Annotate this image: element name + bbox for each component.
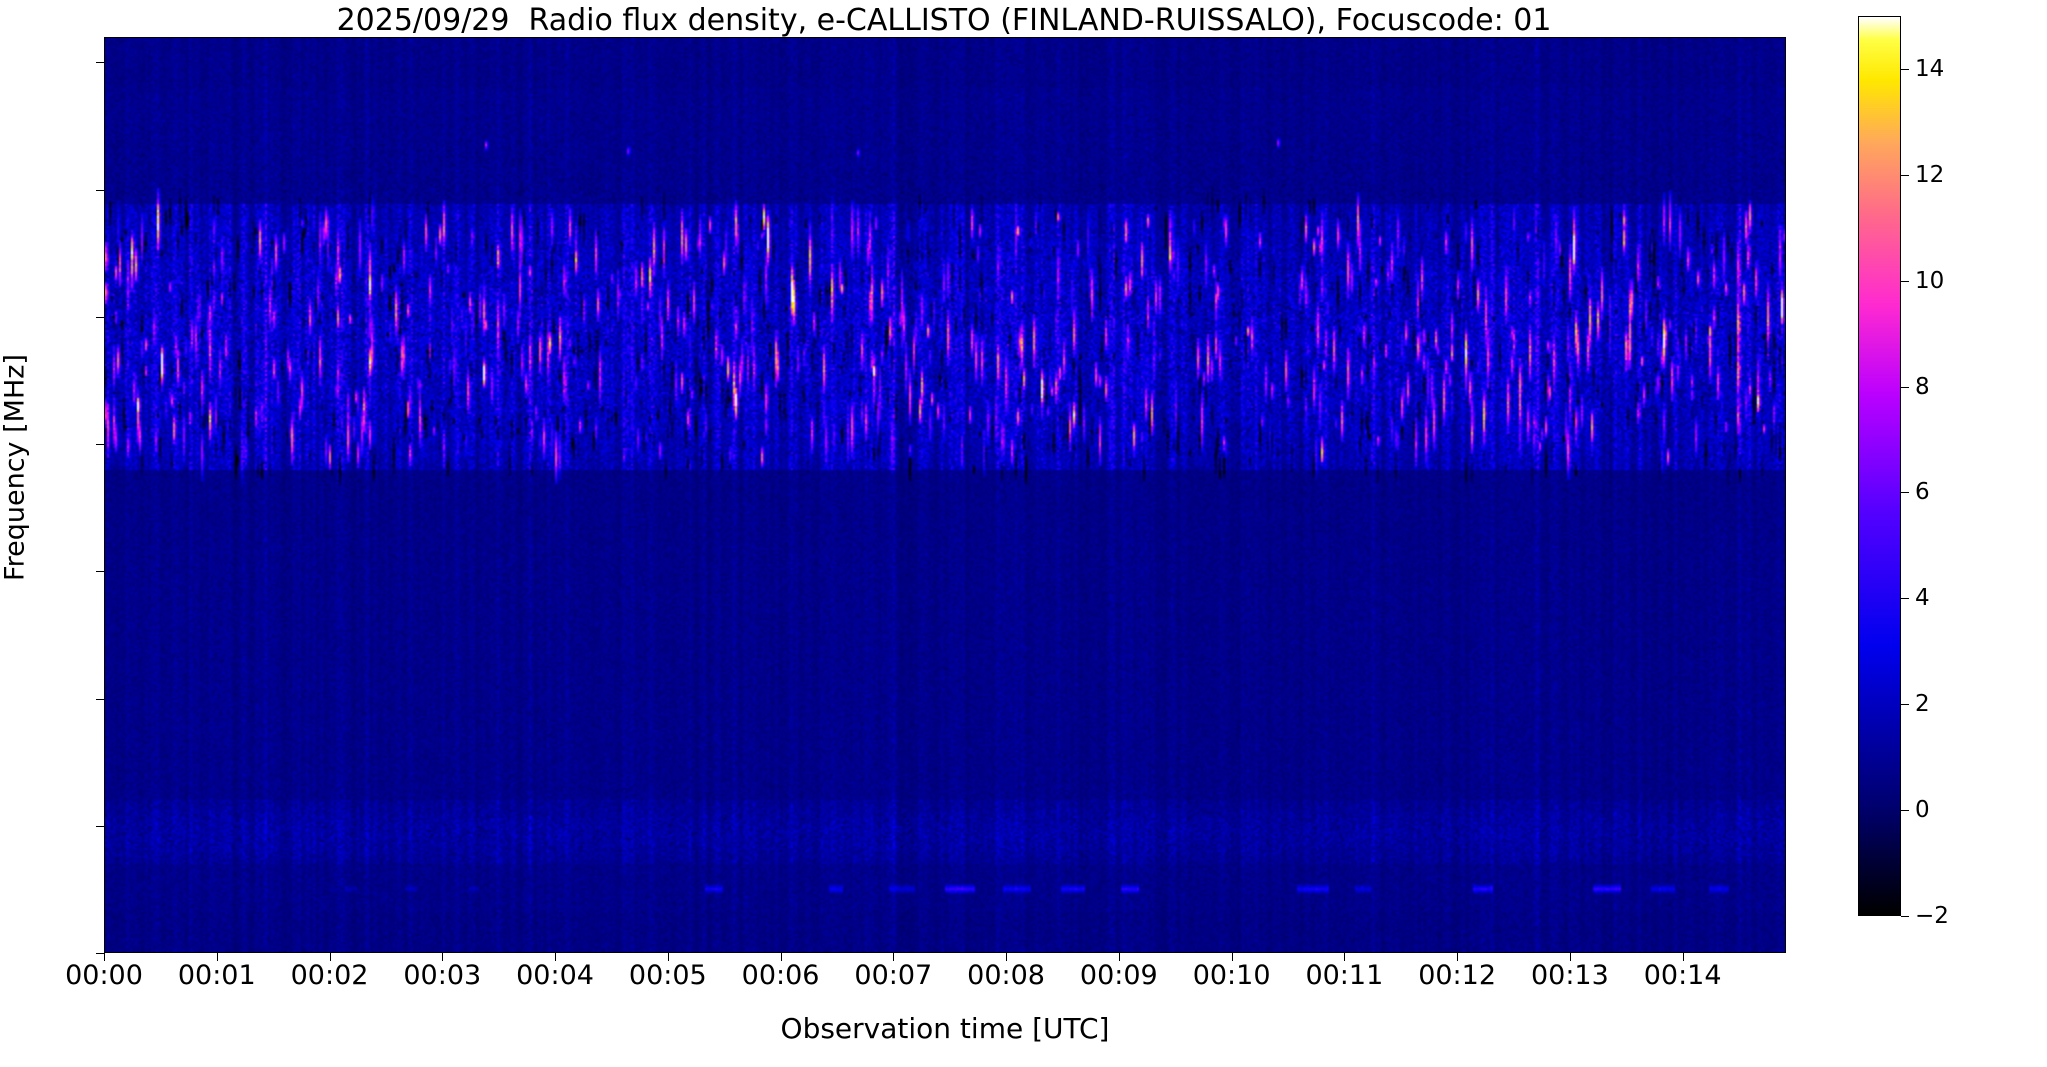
colorbar-tick-mark bbox=[1901, 704, 1909, 705]
colorbar-tick-mark bbox=[1901, 810, 1909, 811]
colorbar-tick-mark bbox=[1901, 492, 1909, 493]
x-tick-mark bbox=[104, 953, 105, 961]
x-tick-mark bbox=[1457, 953, 1458, 961]
y-tick-mark bbox=[96, 444, 104, 445]
x-tick-mark bbox=[1344, 953, 1345, 961]
y-axis-label: Frequency [MHz] bbox=[0, 8, 31, 928]
x-tick-mark bbox=[442, 953, 443, 961]
spectrogram-image bbox=[105, 38, 1785, 952]
colorbar-tick-label: 10 bbox=[1915, 268, 1944, 294]
colorbar-tick-mark bbox=[1901, 387, 1909, 388]
x-tick-mark bbox=[1683, 953, 1684, 961]
colorbar-tick-label: 8 bbox=[1915, 374, 1930, 400]
x-tick-mark bbox=[555, 953, 556, 961]
y-tick-mark bbox=[96, 953, 104, 954]
colorbar bbox=[1858, 16, 1901, 916]
x-tick-mark bbox=[1119, 953, 1120, 961]
spectrogram-axes bbox=[104, 37, 1786, 953]
spectrogram-figure: 2025/09/29 Radio flux density, e-CALLIST… bbox=[0, 0, 2047, 1067]
y-tick-mark bbox=[96, 699, 104, 700]
colorbar-tick-label: 12 bbox=[1915, 162, 1944, 188]
colorbar-tick-mark bbox=[1901, 598, 1909, 599]
colorbar-gradient bbox=[1859, 17, 1900, 915]
colorbar-tick-mark bbox=[1901, 281, 1909, 282]
x-tick-mark bbox=[1570, 953, 1571, 961]
colorbar-tick-label: 0 bbox=[1915, 797, 1930, 823]
colorbar-tick-label: −2 bbox=[1915, 903, 1949, 929]
colorbar-tick-mark bbox=[1901, 69, 1909, 70]
page-title: 2025/09/29 Radio flux density, e-CALLIST… bbox=[104, 4, 1784, 38]
y-tick-mark bbox=[96, 826, 104, 827]
x-tick-mark bbox=[330, 953, 331, 961]
colorbar-tick-label: 2 bbox=[1915, 691, 1930, 717]
y-tick-mark bbox=[96, 571, 104, 572]
x-tick-mark bbox=[893, 953, 894, 961]
x-tick-mark bbox=[1006, 953, 1007, 961]
y-tick-mark bbox=[96, 62, 104, 63]
colorbar-tick-label: 14 bbox=[1915, 56, 1944, 82]
colorbar-tick-mark bbox=[1901, 175, 1909, 176]
x-tick-mark bbox=[781, 953, 782, 961]
y-tick-mark bbox=[96, 190, 104, 191]
x-tick-mark bbox=[668, 953, 669, 961]
x-tick-mark bbox=[1232, 953, 1233, 961]
x-tick-label: 00:14 bbox=[1603, 960, 1763, 991]
x-axis-label: Observation time [UTC] bbox=[104, 1012, 1786, 1045]
colorbar-tick-mark bbox=[1901, 916, 1909, 917]
colorbar-tick-label: 6 bbox=[1915, 479, 1930, 505]
x-tick-mark bbox=[217, 953, 218, 961]
colorbar-tick-label: 4 bbox=[1915, 585, 1930, 611]
y-tick-mark bbox=[96, 317, 104, 318]
